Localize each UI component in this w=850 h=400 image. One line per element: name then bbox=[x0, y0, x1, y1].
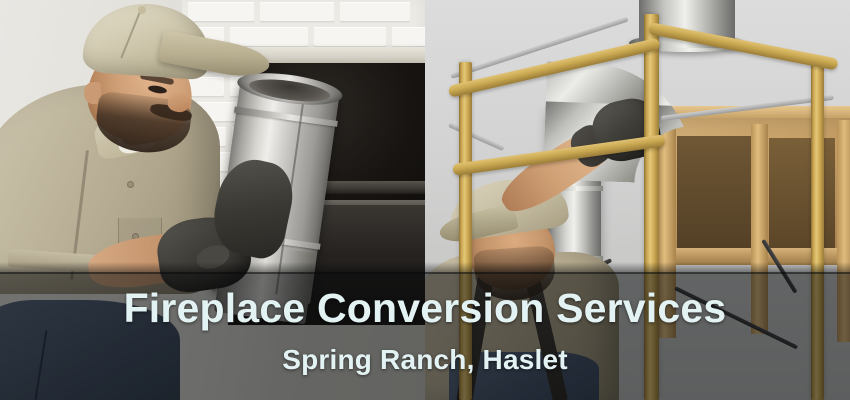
page-title: Fireplace Conversion Services bbox=[124, 286, 727, 332]
banner-caption: Fireplace Conversion Services Spring Ran… bbox=[0, 272, 850, 400]
shirt-button bbox=[128, 182, 133, 187]
cap-button bbox=[138, 6, 146, 14]
timber-frame-panel bbox=[769, 138, 835, 250]
banner-location-subtitle: Spring Ranch, Haslet bbox=[282, 344, 568, 376]
service-banner: Fireplace Conversion Services Spring Ran… bbox=[0, 0, 850, 400]
